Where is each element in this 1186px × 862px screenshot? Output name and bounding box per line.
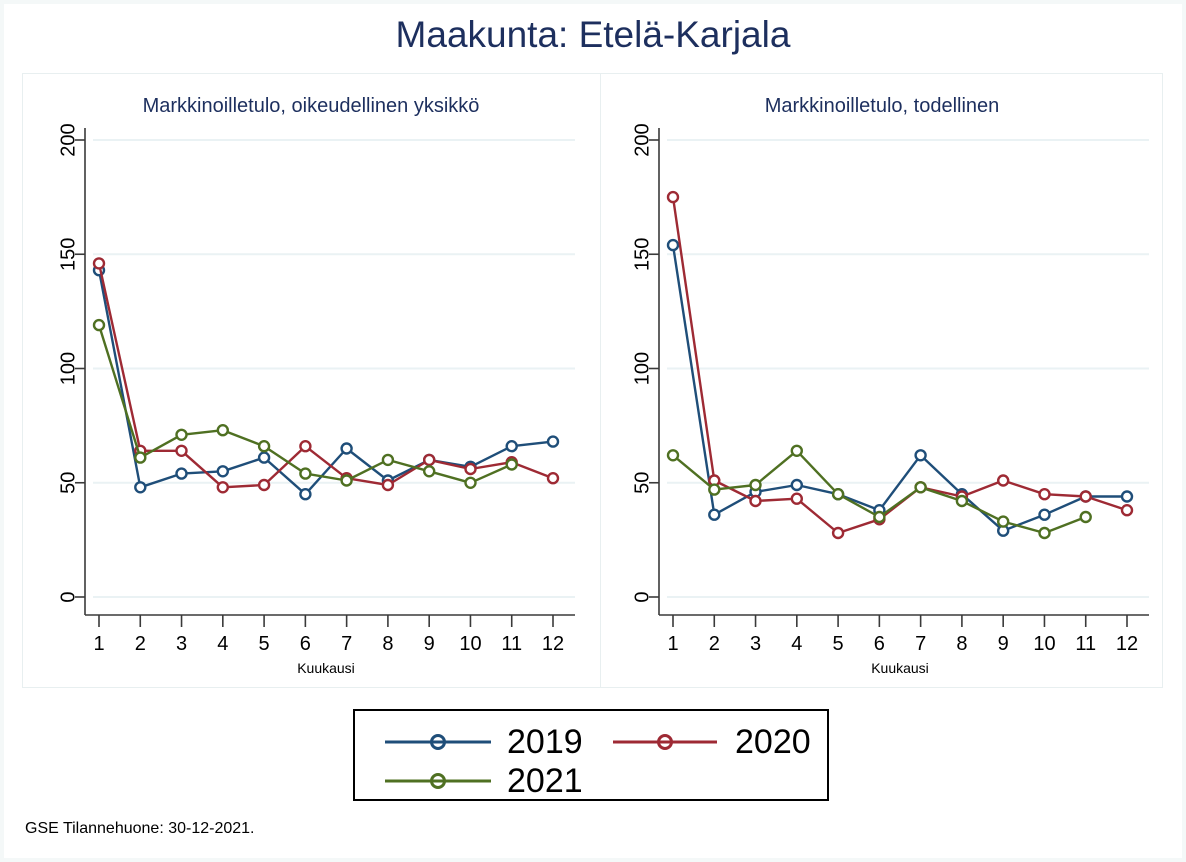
svg-text:6: 6 xyxy=(874,633,885,655)
svg-text:5: 5 xyxy=(833,633,844,655)
svg-text:7: 7 xyxy=(915,633,926,655)
svg-text:200: 200 xyxy=(631,123,653,156)
svg-text:10: 10 xyxy=(459,633,481,655)
legend-label-2019: 2019 xyxy=(507,725,583,759)
legend-entry-2020 xyxy=(613,736,717,749)
svg-text:100: 100 xyxy=(631,352,653,385)
svg-text:150: 150 xyxy=(57,238,79,271)
svg-text:12: 12 xyxy=(542,633,564,655)
svg-text:8: 8 xyxy=(382,633,393,655)
svg-text:11: 11 xyxy=(501,633,522,655)
svg-text:10: 10 xyxy=(1033,633,1055,655)
svg-text:4: 4 xyxy=(217,633,228,655)
svg-text:1: 1 xyxy=(667,633,678,655)
legend: 2019 2020 2021 xyxy=(353,709,829,801)
panel-left: Markkinoilletulo, oikeudellinen yksikkö … xyxy=(22,73,600,688)
svg-text:9: 9 xyxy=(998,633,1009,655)
svg-text:2: 2 xyxy=(709,633,720,655)
svg-text:1: 1 xyxy=(93,633,104,655)
plot-right: 050100150200123456789101112Kuukausi xyxy=(601,73,1163,688)
svg-text:0: 0 xyxy=(57,591,79,602)
svg-text:7: 7 xyxy=(341,633,352,655)
plot-left: 050100150200123456789101112Kuukausi xyxy=(22,73,600,688)
svg-text:8: 8 xyxy=(956,633,967,655)
svg-text:6: 6 xyxy=(300,633,311,655)
svg-text:200: 200 xyxy=(57,123,79,156)
legend-entry-2021 xyxy=(385,775,491,788)
svg-text:9: 9 xyxy=(424,633,435,655)
svg-text:3: 3 xyxy=(176,633,187,655)
svg-text:Kuukausi: Kuukausi xyxy=(297,660,355,676)
svg-text:4: 4 xyxy=(791,633,802,655)
svg-text:12: 12 xyxy=(1116,633,1138,655)
svg-text:3: 3 xyxy=(750,633,761,655)
svg-text:50: 50 xyxy=(57,472,79,494)
svg-text:150: 150 xyxy=(631,238,653,271)
svg-text:2: 2 xyxy=(135,633,146,655)
svg-text:11: 11 xyxy=(1075,633,1096,655)
panel-right: Markkinoilletulo, todellinen 05010015020… xyxy=(601,73,1163,688)
chart-page: Maakunta: Etelä-Karjala Markkinoilletulo… xyxy=(0,0,1186,862)
footer-note: GSE Tilannehuone: 30-12-2021. xyxy=(25,820,255,838)
legend-label-2020: 2020 xyxy=(735,725,811,759)
svg-text:50: 50 xyxy=(631,472,653,494)
legend-entry-2019 xyxy=(385,736,491,749)
svg-text:100: 100 xyxy=(57,352,79,385)
svg-text:5: 5 xyxy=(259,633,270,655)
svg-text:0: 0 xyxy=(631,591,653,602)
page-title: Maakunta: Etelä-Karjala xyxy=(0,14,1186,56)
svg-text:Kuukausi: Kuukausi xyxy=(871,660,929,676)
legend-label-2021: 2021 xyxy=(507,764,583,798)
